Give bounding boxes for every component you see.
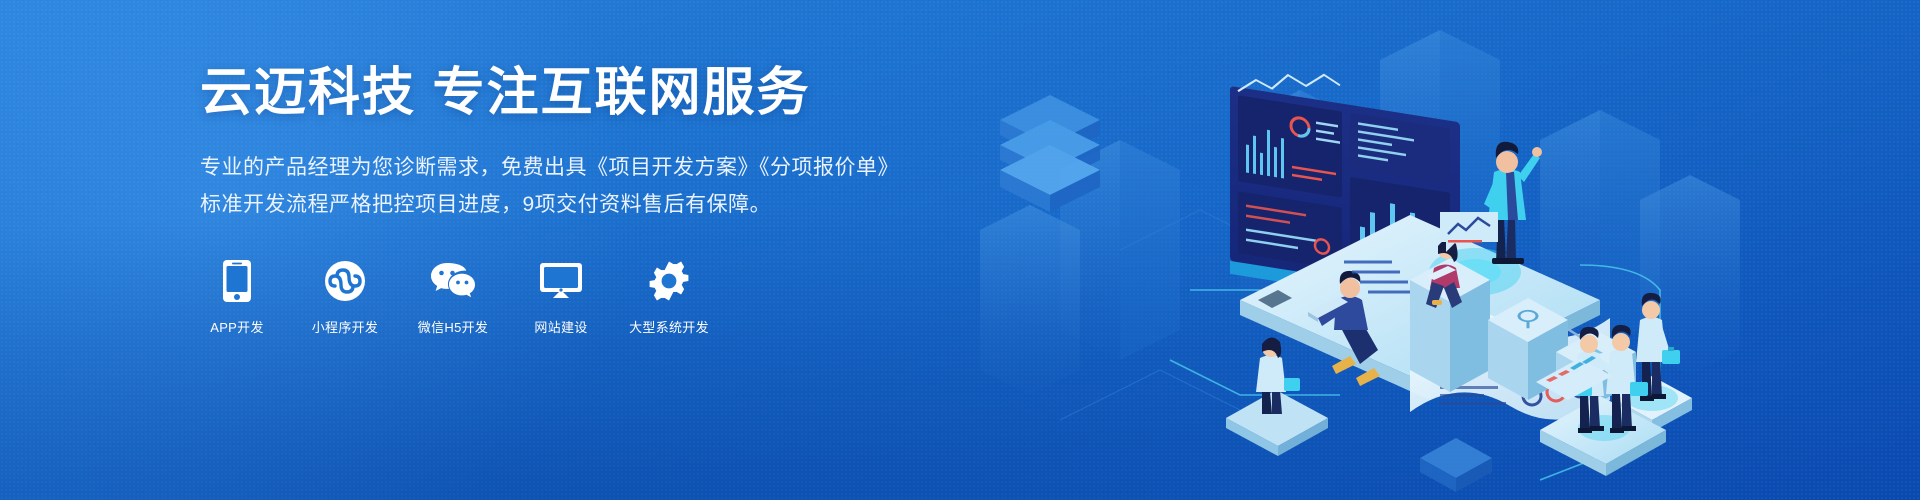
wechat-icon [430, 258, 476, 304]
person-lower-left [1226, 337, 1328, 456]
service-item-mini-program[interactable]: 小程序开发 [308, 258, 382, 336]
service-label: 小程序开发 [312, 317, 379, 336]
service-item-website[interactable]: 网站建设 [524, 258, 598, 336]
hero-banner: 云迈科技 专注互联网服务 专业的产品经理为您诊断需求，免费出具《项目开发方案》《… [0, 0, 1920, 500]
hero-illustration [940, 0, 1860, 500]
service-item-app[interactable]: APP开发 [200, 258, 274, 336]
service-item-large-system[interactable]: 大型系统开发 [632, 258, 706, 336]
service-label: APP开发 [210, 317, 264, 336]
service-item-wechat-h5[interactable]: 微信H5开发 [416, 258, 490, 336]
gear-icon [646, 258, 692, 304]
server-stack-icon [1000, 95, 1100, 212]
mobile-phone-icon [214, 258, 260, 304]
mini-program-icon [322, 258, 368, 304]
subtitle-line-1: 专业的产品经理为您诊断需求，免费出具《项目开发方案》《分项报价单》 [200, 150, 960, 187]
service-list: APP开发 小程序开发 [200, 258, 960, 336]
subtitle-line-2: 标准开发流程严格把控项目进度，9项交付资料售后有保障。 [200, 187, 960, 224]
hero-content: 云迈科技 专注互联网服务 专业的产品经理为您诊断需求，免费出具《项目开发方案》《… [200, 62, 960, 336]
service-label: 微信H5开发 [418, 317, 488, 336]
service-label: 网站建设 [534, 317, 587, 336]
page-title: 云迈科技 专注互联网服务 [200, 62, 960, 124]
floating-cube [1420, 438, 1492, 492]
monitor-icon [538, 258, 584, 304]
service-label: 大型系统开发 [629, 317, 709, 336]
subtitle-block: 专业的产品经理为您诊断需求，免费出具《项目开发方案》《分项报价单》 标准开发流程… [200, 150, 960, 224]
